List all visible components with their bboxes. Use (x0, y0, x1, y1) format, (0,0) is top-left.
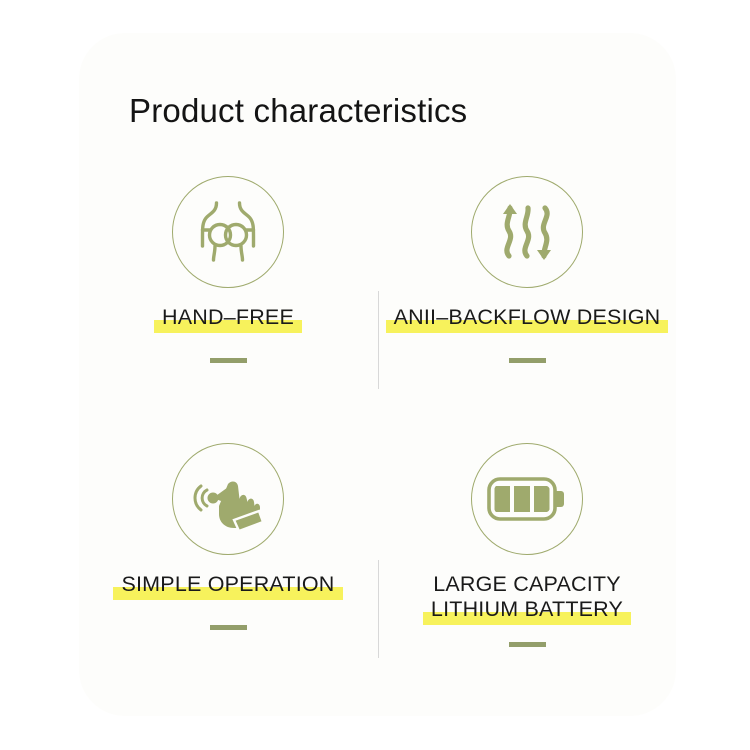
feature-anti-backflow[interactable]: ANII–BACKFLOW DESIGN (378, 165, 676, 363)
page-title: Product characteristics (129, 92, 467, 130)
feature-dash (509, 642, 546, 647)
touch-tap-hand-icon (172, 443, 284, 555)
screenshot-root: Product characteristics (0, 0, 750, 750)
feature-large-capacity-battery[interactable]: LARGE CAPACITY LITHIUM BATTERY (378, 432, 676, 647)
feature-label: ANII–BACKFLOW DESIGN (390, 305, 665, 330)
anti-backflow-airflow-arrows-icon (471, 176, 583, 288)
product-characteristics-card: Product characteristics (79, 33, 676, 716)
battery-full-icon (471, 443, 583, 555)
feature-dash (210, 358, 247, 363)
hands-free-wearable-pump-icon (172, 176, 284, 288)
feature-dash (509, 358, 546, 363)
feature-simple-operation[interactable]: SIMPLE OPERATION (79, 432, 377, 630)
feature-hand-free[interactable]: HAND–FREE (79, 165, 377, 363)
feature-label: LARGE CAPACITY LITHIUM BATTERY (427, 572, 627, 622)
feature-label: SIMPLE OPERATION (117, 572, 338, 597)
feature-grid: HAND–FREE (79, 165, 676, 716)
feature-label: HAND–FREE (158, 305, 298, 330)
feature-dash (210, 625, 247, 630)
